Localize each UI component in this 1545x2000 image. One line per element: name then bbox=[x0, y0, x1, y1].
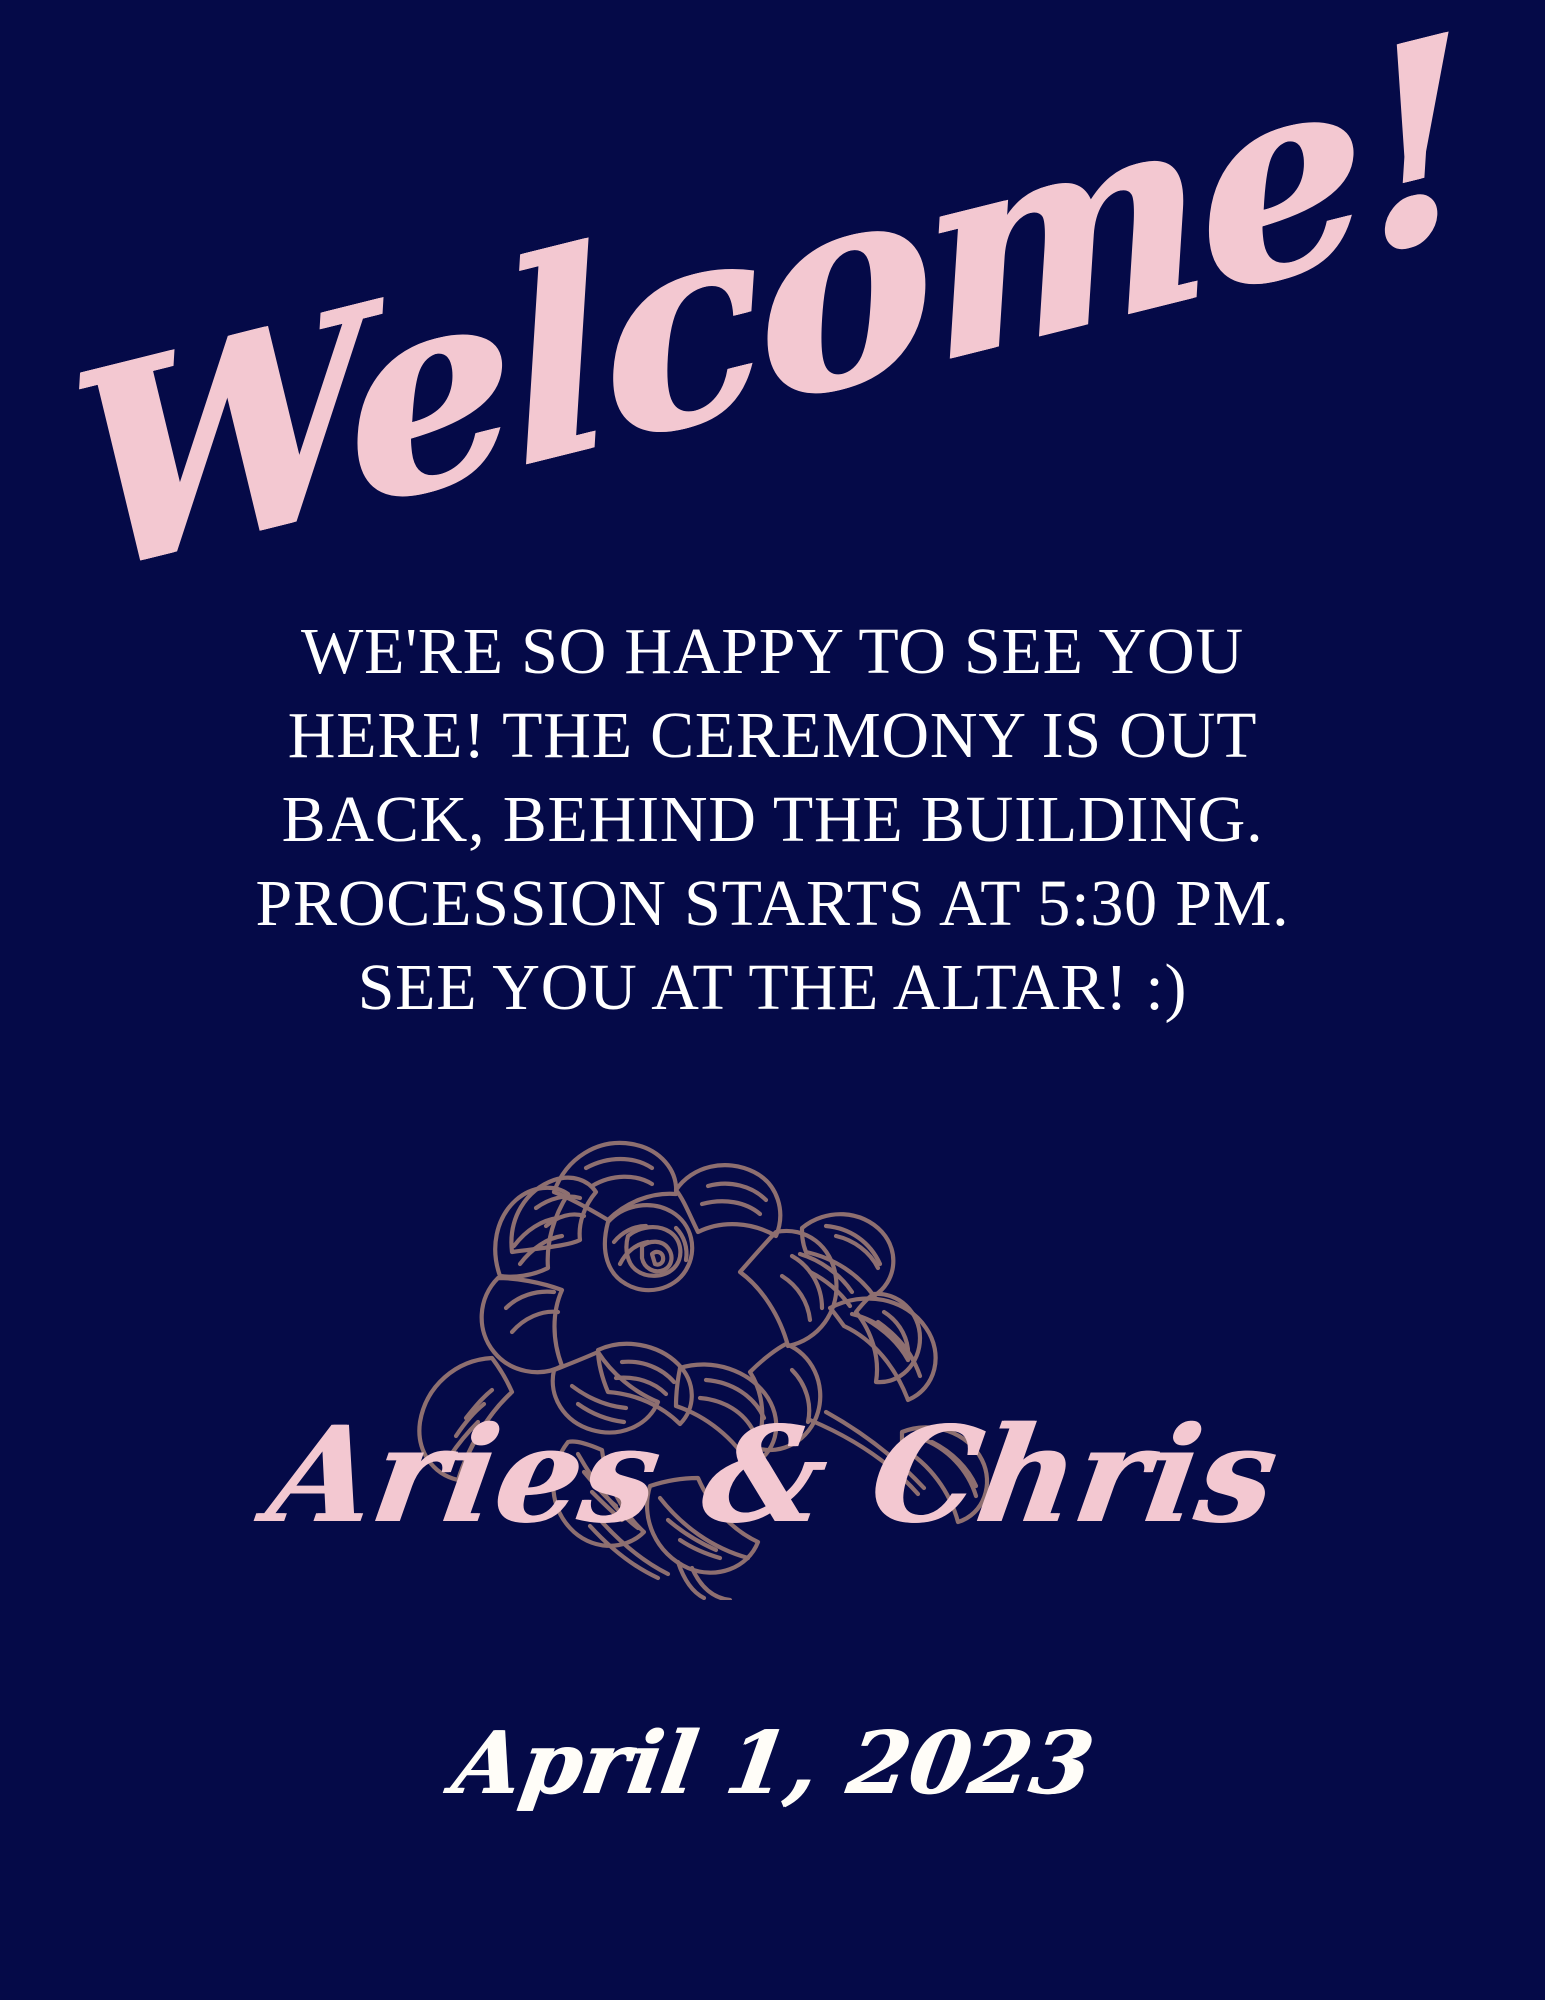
message-line: BACK, BEHIND THE BUILDING. bbox=[153, 778, 1393, 862]
wedding-welcome-sign: Welcome! WE'RE SO HAPPY TO SEE YOU HERE!… bbox=[0, 0, 1545, 2000]
event-date: April 1, 2023 bbox=[446, 1715, 1099, 1814]
roses-line-art-icon bbox=[340, 1040, 1060, 1600]
message-line: WE'RE SO HAPPY TO SEE YOU bbox=[153, 610, 1393, 694]
couple-names-area: Aries & Chris bbox=[0, 1400, 1545, 1552]
welcome-message-block: WE'RE SO HAPPY TO SEE YOU HERE! THE CERE… bbox=[153, 610, 1393, 1030]
couple-names: Aries & Chris bbox=[259, 1400, 1287, 1552]
welcome-headline-area: Welcome! bbox=[0, 70, 1545, 540]
message-line: PROCESSION STARTS AT 5:30 PM. bbox=[153, 862, 1393, 946]
welcome-headline: Welcome! bbox=[61, 0, 1484, 613]
event-date-area: April 1, 2023 bbox=[0, 1715, 1545, 1814]
message-line: SEE YOU AT THE ALTAR! :) bbox=[153, 946, 1393, 1030]
message-line: HERE! THE CEREMONY IS OUT bbox=[153, 694, 1393, 778]
